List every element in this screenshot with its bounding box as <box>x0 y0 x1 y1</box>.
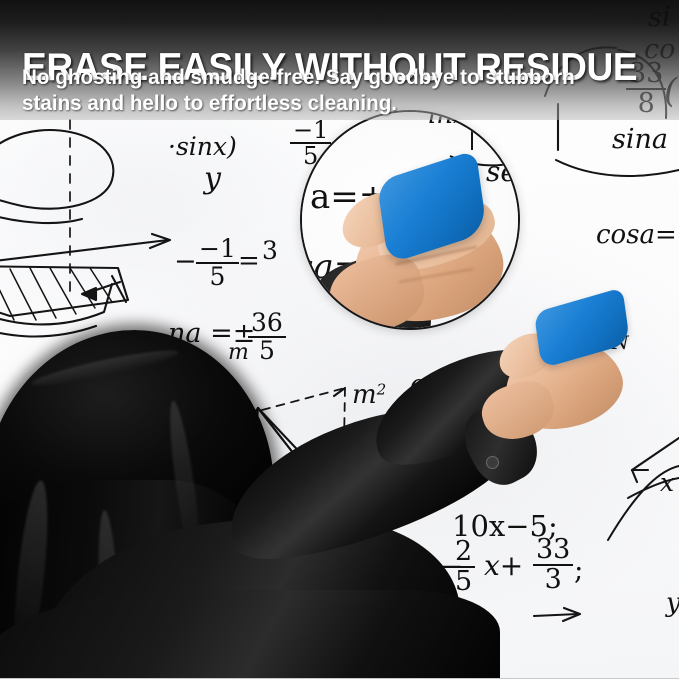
ink-fraction-denominator: 5 <box>206 264 228 290</box>
page-subtitle-line-1: No ghosting and smudge-free. Say goodbye… <box>22 64 636 90</box>
page-subtitle: No ghosting and smudge-free. Say goodbye… <box>22 64 636 116</box>
ink-digit-three: 3 <box>262 238 278 263</box>
ink-fraction-neg1-over5-b: −1 5 <box>196 236 239 289</box>
product-infographic-image: si co 33 8 ( sina cosa= ·sinx) −1 5 y − … <box>0 0 679 679</box>
ink-exponent-two: 2 <box>377 381 387 399</box>
ink-equation-x-plus: x+ <box>484 552 523 580</box>
magnified-content: a=± N sa= seca inx −1 5 36 5 <box>300 110 520 330</box>
ink-fraction-33-over-3: 33 3 <box>533 536 573 593</box>
ink-sinx-paren: ·sinx) <box>168 134 237 159</box>
ink-cosa-right: cosa= <box>596 222 677 248</box>
sleeve-button-icon <box>486 456 499 469</box>
ink-y-right: y <box>666 590 679 616</box>
person-torso <box>0 590 500 679</box>
ink-fraction-numerator: 2 <box>452 538 475 568</box>
ink-fraction-denominator: 3 <box>542 566 565 594</box>
ink-fraction-2-over-5: 2 5 <box>452 538 475 595</box>
ink-m-squared: m2 <box>352 382 386 408</box>
ink-fraction-numerator: −1 <box>196 236 239 264</box>
magnified-detail-circle: a=± N sa= seca inx −1 5 36 5 <box>300 110 520 330</box>
ink-x-right: x <box>660 470 674 495</box>
ink-equals-sign: = <box>238 248 260 274</box>
ink-sina-right: sina <box>612 126 668 153</box>
ink-minus-sign: − <box>174 248 197 275</box>
ink-equation-semicolon: ; <box>574 556 583 584</box>
ink-m-letter: m <box>352 380 377 410</box>
ink-letter-y: y <box>204 164 221 194</box>
page-subtitle-line-2: stains and hello to effortless cleaning. <box>22 90 636 116</box>
ink-fraction-numerator: 33 <box>533 536 573 566</box>
